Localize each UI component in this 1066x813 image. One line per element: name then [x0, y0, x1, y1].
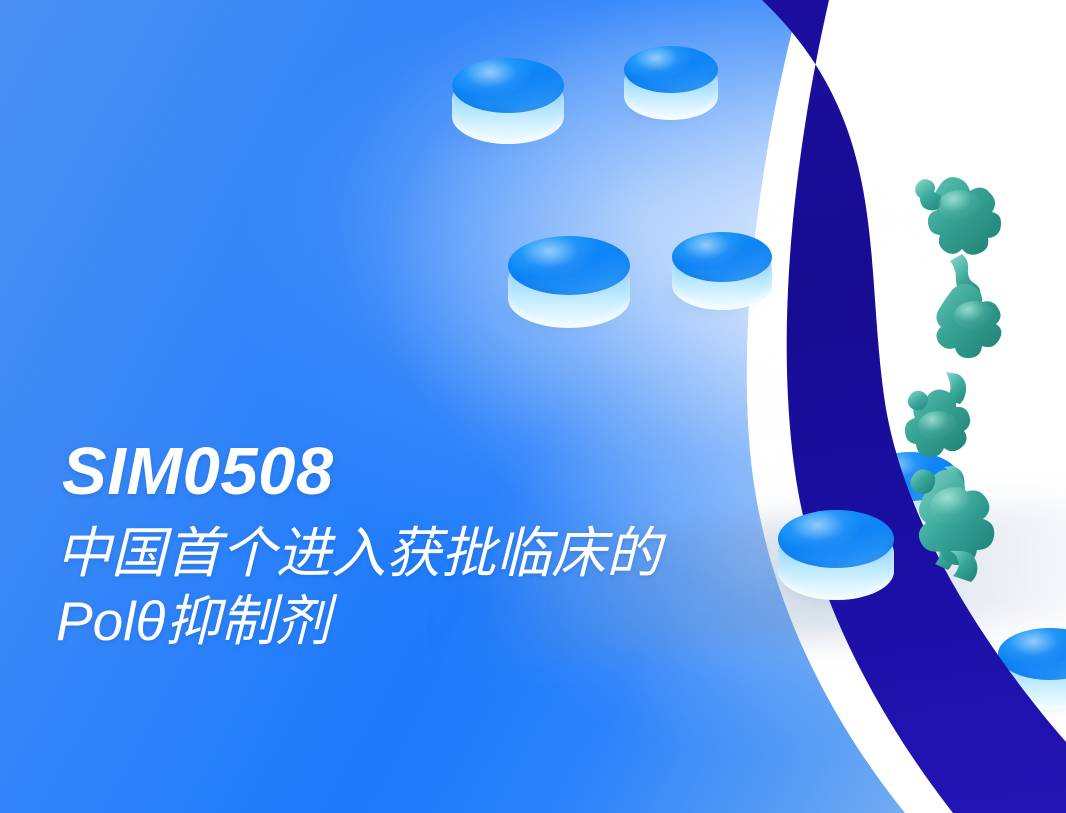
headline-block: SIM0508 中国首个进入获批临床的 Polθ抑制剂 — [62, 438, 882, 655]
poster-canvas: SIM0508 中国首个进入获批临床的 Polθ抑制剂 — [0, 0, 1066, 813]
pill-mid-left — [508, 236, 630, 328]
pill-top-right — [624, 46, 718, 120]
pill-cap — [624, 46, 718, 93]
page-subtitle: 中国首个进入获批临床的 Polθ抑制剂 — [56, 519, 882, 655]
pill-mid-right — [672, 232, 772, 310]
pill-top-left — [452, 58, 564, 144]
protein-structure-base-icon — [900, 455, 1040, 585]
pill-cap — [452, 58, 564, 113]
subtitle-line-1: 中国首个进入获批临床的 — [56, 519, 882, 587]
pill-cap — [508, 236, 630, 295]
page-title: SIM0508 — [62, 438, 882, 505]
pill-cap — [672, 232, 772, 282]
subtitle-line-2: Polθ抑制剂 — [56, 587, 882, 655]
